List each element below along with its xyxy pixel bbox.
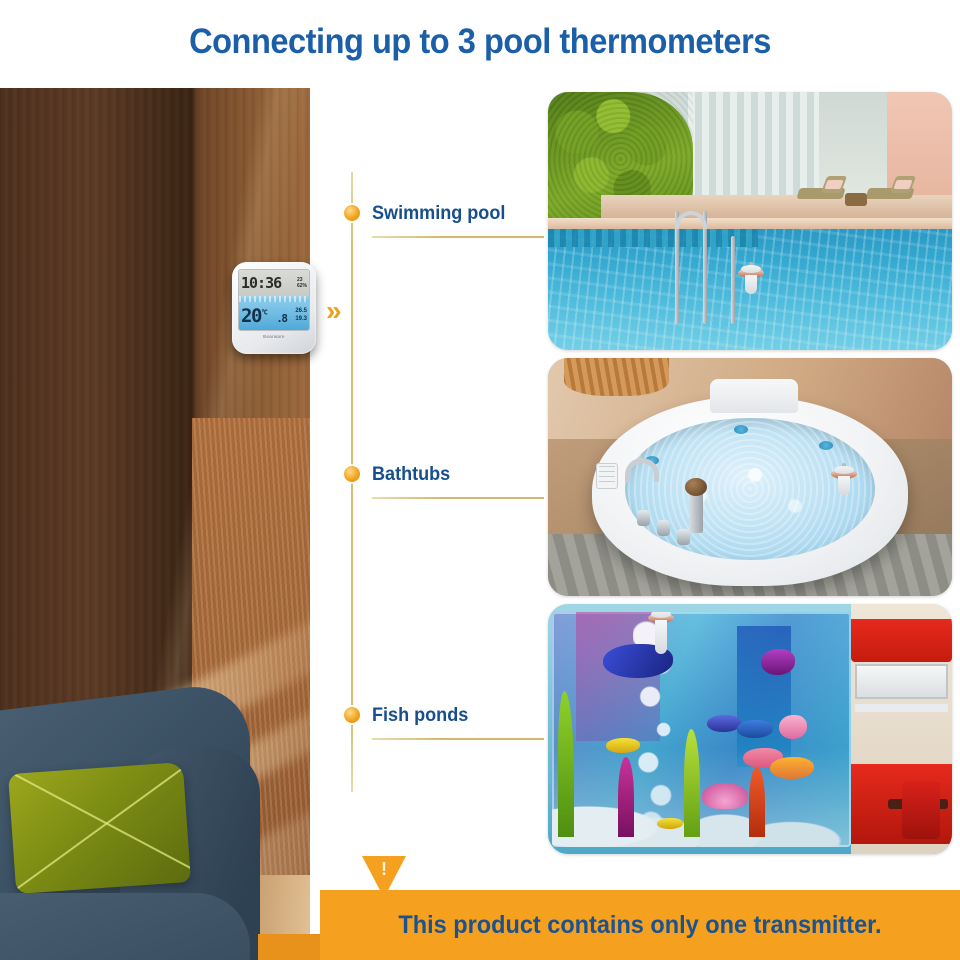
hero-photo-living-room xyxy=(0,88,310,960)
photo-card-bathtub xyxy=(548,358,952,596)
whirlpool-jet xyxy=(734,425,748,434)
page-title: Connecting up to 3 pool thermometers xyxy=(34,22,927,62)
timeline-underline-fish-ponds xyxy=(372,738,544,740)
side-table xyxy=(845,193,867,206)
sun-lounger xyxy=(867,177,913,203)
timeline-label-bathtubs: Bathtubs xyxy=(372,464,450,486)
floating-thermometer-sensor xyxy=(831,463,857,495)
red-dining-chair xyxy=(902,781,940,839)
exclamation-mark: ! xyxy=(362,860,406,878)
double-chevron-icon: » xyxy=(326,296,356,326)
handheld-shower-head xyxy=(689,487,703,533)
fish xyxy=(737,720,773,738)
minmax-readouts: 26.5 19.3 xyxy=(295,308,307,324)
infographic-canvas: Connecting up to 3 pool thermometers 10:… xyxy=(0,0,960,960)
lcd-lower-section: 20°C .8 26.5 19.3 xyxy=(239,302,309,330)
swimming-pool-scene xyxy=(548,92,952,350)
timeline-dot-fish-ponds xyxy=(344,707,360,723)
timeline-dot-bathtubs xyxy=(344,466,360,482)
tub-control-panel xyxy=(596,463,618,489)
water-temp-decimal: .8 xyxy=(276,312,286,325)
thermometer-display-unit: 10:36 23 62% 20°C .8 26.5 19.3 Bearware xyxy=(232,262,316,354)
banner-left-accent xyxy=(258,934,322,960)
aquarium-plant xyxy=(558,691,574,837)
timeline-label-fish-ponds: Fish ponds xyxy=(372,705,468,727)
sofa-seat-cushion xyxy=(0,893,250,960)
photo-card-fish-pond xyxy=(548,604,952,854)
fish xyxy=(779,715,807,739)
floating-thermometer-sensor xyxy=(738,262,764,294)
sea-anemone xyxy=(702,783,748,809)
timeline-label-swimming-pool: Swimming pool xyxy=(372,203,505,225)
tub-control-knob xyxy=(657,520,670,536)
lcd-upper-section: 10:36 23 62% xyxy=(239,270,309,296)
red-upper-cabinet xyxy=(851,619,952,662)
photo-card-swimming-pool xyxy=(548,92,952,350)
tub-control-knob xyxy=(677,529,690,545)
fish-tank xyxy=(552,612,851,847)
open-shelf xyxy=(855,704,948,712)
aquarium-scene xyxy=(548,604,952,854)
olive-throw-pillow xyxy=(8,762,191,894)
min-temp-value: 19.3 xyxy=(295,316,307,324)
glass-cabinet xyxy=(855,664,948,699)
tub-control-knob xyxy=(637,510,650,526)
timeline-dot-swimming-pool xyxy=(344,205,360,221)
timeline-underline-bathtubs xyxy=(372,497,544,499)
aquarium-plant xyxy=(684,729,700,837)
timeline-vertical-line xyxy=(351,172,353,792)
aquarium-plant xyxy=(618,757,634,837)
water-wave-indicator xyxy=(239,296,309,302)
fish xyxy=(707,715,741,732)
indoor-readouts: 23 62% xyxy=(297,277,307,290)
wooden-basket xyxy=(564,358,669,396)
disclaimer-text: This product contains only one transmitt… xyxy=(398,911,881,940)
tank-backdrop-blue xyxy=(737,626,791,767)
sun-lounger xyxy=(798,177,844,203)
clock-readout: 10:36 xyxy=(241,276,297,291)
temp-unit-label: °C xyxy=(261,308,266,316)
bathtub-scene xyxy=(548,358,952,596)
water-temp-integer: 20 xyxy=(241,305,261,327)
disclaimer-banner: This product contains only one transmitt… xyxy=(320,890,960,960)
brand-logo: Bearware xyxy=(238,334,310,339)
floating-thermometer-sensor xyxy=(648,612,674,639)
pool-ladder xyxy=(669,211,747,325)
max-temp-value: 26.5 xyxy=(295,308,307,316)
tub-headrest xyxy=(710,379,799,412)
lcd-screen: 10:36 23 62% 20°C .8 26.5 19.3 xyxy=(238,269,310,331)
timeline-underline-swimming-pool xyxy=(372,236,544,238)
indoor-humidity-value: 62% xyxy=(297,283,307,289)
water-temp-readout: 20°C .8 xyxy=(241,307,295,326)
